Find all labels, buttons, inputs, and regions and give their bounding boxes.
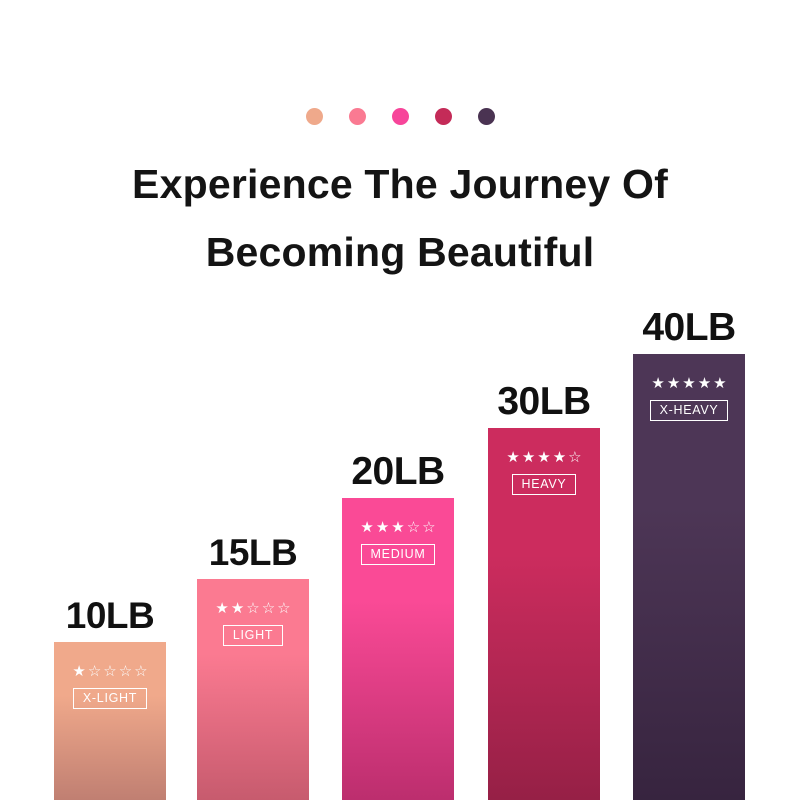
bar-group-40lb[interactable]: 40LB★★★★★X-HEAVY bbox=[633, 354, 745, 800]
bar-content: ★★★★★X-HEAVY bbox=[633, 354, 745, 421]
bar-40lb[interactable]: ★★★★★X-HEAVY bbox=[633, 354, 745, 800]
weight-label-20lb: 20LB bbox=[342, 450, 454, 494]
bar-group-15lb[interactable]: 15LB★★☆☆☆LIGHT bbox=[197, 579, 309, 800]
star-empty-icon: ☆ bbox=[119, 664, 132, 679]
star-filled-icon: ★ bbox=[376, 520, 389, 535]
level-badge-light: LIGHT bbox=[223, 625, 283, 646]
resistance-bar-chart: 10LB★☆☆☆☆X-LIGHT15LB★★☆☆☆LIGHT20LB★★★☆☆M… bbox=[0, 0, 800, 800]
star-filled-icon: ★ bbox=[698, 376, 711, 391]
star-empty-icon: ☆ bbox=[134, 664, 147, 679]
level-badge-x-heavy: X-HEAVY bbox=[650, 400, 729, 421]
weight-label-40lb: 40LB bbox=[633, 306, 745, 350]
star-filled-icon: ★ bbox=[231, 601, 244, 616]
star-rating-15lb: ★★☆☆☆ bbox=[215, 601, 290, 616]
bar-content: ★★☆☆☆LIGHT bbox=[197, 579, 309, 646]
star-filled-icon: ★ bbox=[667, 376, 680, 391]
star-empty-icon: ☆ bbox=[277, 601, 290, 616]
star-rating-30lb: ★★★★☆ bbox=[506, 450, 581, 465]
star-filled-icon: ★ bbox=[553, 450, 566, 465]
bar-group-20lb[interactable]: 20LB★★★☆☆MEDIUM bbox=[342, 498, 454, 800]
star-filled-icon: ★ bbox=[537, 450, 550, 465]
star-empty-icon: ☆ bbox=[568, 450, 581, 465]
star-rating-10lb: ★☆☆☆☆ bbox=[72, 664, 147, 679]
star-rating-40lb: ★★★★★ bbox=[651, 376, 726, 391]
level-badge-heavy: HEAVY bbox=[512, 474, 577, 495]
star-empty-icon: ☆ bbox=[88, 664, 101, 679]
bar-content: ★★★★☆HEAVY bbox=[488, 428, 600, 495]
star-filled-icon: ★ bbox=[360, 520, 373, 535]
bar-group-30lb[interactable]: 30LB★★★★☆HEAVY bbox=[488, 428, 600, 800]
star-rating-20lb: ★★★☆☆ bbox=[360, 520, 435, 535]
star-empty-icon: ☆ bbox=[262, 601, 275, 616]
bar-content: ★★★☆☆MEDIUM bbox=[342, 498, 454, 565]
weight-label-15lb: 15LB bbox=[197, 531, 309, 575]
bar-10lb[interactable]: ★☆☆☆☆X-LIGHT bbox=[54, 642, 166, 800]
weight-label-30lb: 30LB bbox=[488, 380, 600, 424]
star-filled-icon: ★ bbox=[682, 376, 695, 391]
bar-15lb[interactable]: ★★☆☆☆LIGHT bbox=[197, 579, 309, 800]
star-filled-icon: ★ bbox=[215, 601, 228, 616]
star-empty-icon: ☆ bbox=[422, 520, 435, 535]
poster-canvas: Experience The Journey Of Becoming Beaut… bbox=[0, 0, 800, 800]
star-filled-icon: ★ bbox=[713, 376, 726, 391]
bar-content: ★☆☆☆☆X-LIGHT bbox=[54, 642, 166, 709]
star-filled-icon: ★ bbox=[522, 450, 535, 465]
star-filled-icon: ★ bbox=[506, 450, 519, 465]
star-empty-icon: ☆ bbox=[103, 664, 116, 679]
level-badge-x-light: X-LIGHT bbox=[73, 688, 147, 709]
level-badge-medium: MEDIUM bbox=[361, 544, 436, 565]
star-filled-icon: ★ bbox=[391, 520, 404, 535]
star-filled-icon: ★ bbox=[651, 376, 664, 391]
star-empty-icon: ☆ bbox=[246, 601, 259, 616]
star-filled-icon: ★ bbox=[72, 664, 85, 679]
bar-30lb[interactable]: ★★★★☆HEAVY bbox=[488, 428, 600, 800]
bar-20lb[interactable]: ★★★☆☆MEDIUM bbox=[342, 498, 454, 800]
bar-group-10lb[interactable]: 10LB★☆☆☆☆X-LIGHT bbox=[54, 642, 166, 800]
star-empty-icon: ☆ bbox=[407, 520, 420, 535]
weight-label-10lb: 10LB bbox=[54, 594, 166, 638]
